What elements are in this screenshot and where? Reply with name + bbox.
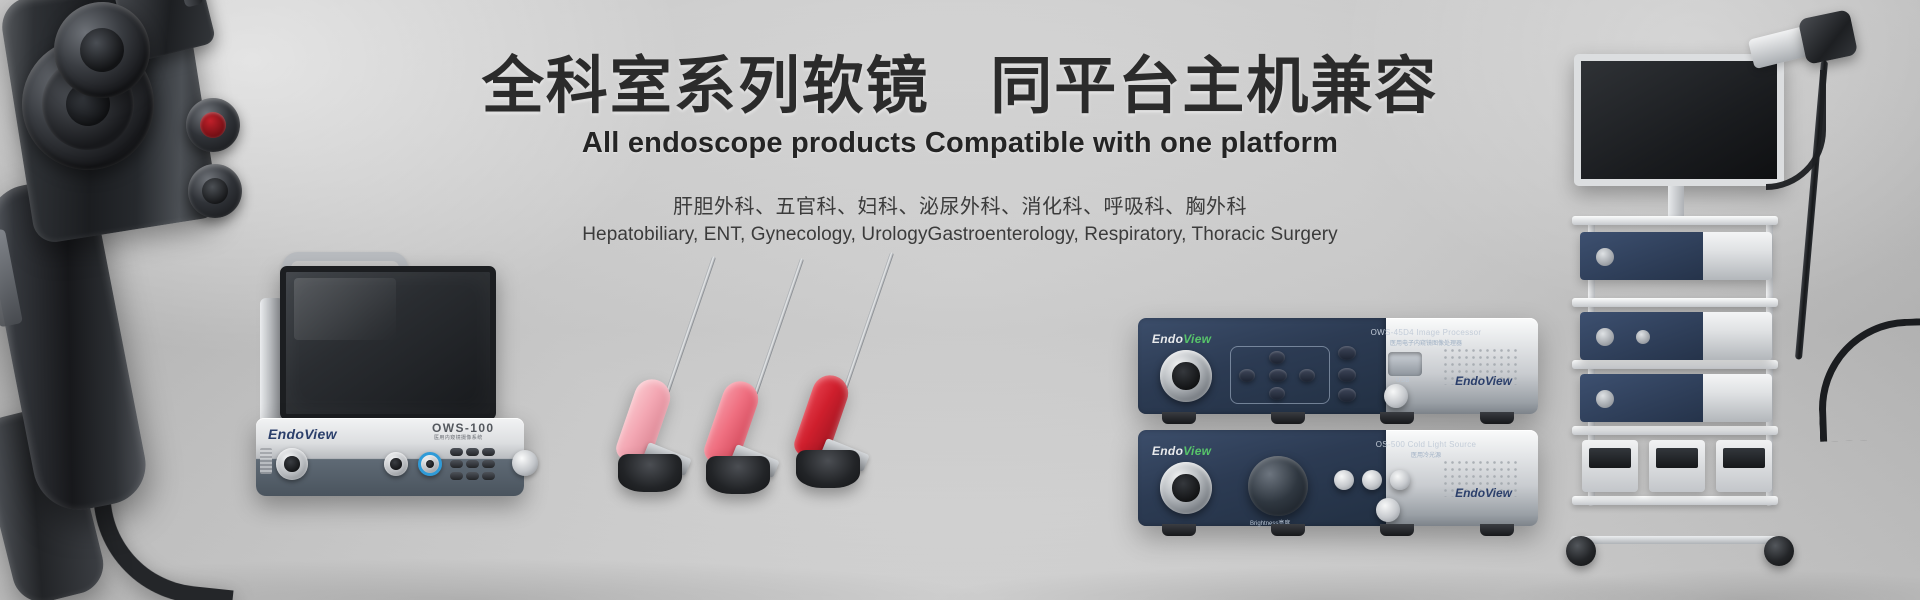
headline-cn-part2: 同平台主机兼容 [990, 52, 1438, 121]
image-processor-unit: EndoView OWS-45D4 Image Processor 医用电子内窥… [1138, 318, 1538, 414]
light-source-model: OS-500 Cold Light Source [1314, 440, 1538, 449]
light-source-model-cn: 医用冷光源 [1314, 450, 1538, 459]
processor-usb-label: USB [1396, 378, 1410, 384]
light-source-brand-prefix: Endo [1152, 444, 1183, 458]
brightness-knob [1248, 456, 1308, 516]
processor-feet [1162, 412, 1514, 424]
processor-brand: EndoView [1152, 332, 1211, 346]
key-freeze [1338, 368, 1356, 382]
light-source-power-button [1376, 498, 1400, 522]
light-source-output-port [1160, 462, 1212, 514]
processor-scope-port [1160, 350, 1212, 402]
headline-en: All endoscope products Compatible with o… [0, 127, 1920, 160]
cart-lower-modules [1582, 440, 1772, 492]
processor-brand-prefix: Endo [1152, 332, 1183, 346]
cart-device-3 [1580, 374, 1772, 422]
processor-power-button [1384, 384, 1408, 408]
mode-button [1334, 470, 1354, 490]
workstation-keypad [450, 448, 506, 482]
whiteled-button [1362, 470, 1382, 490]
workstation-port-3-highlighted [418, 452, 442, 476]
scope-stand [706, 456, 770, 494]
page-title: 全科室系列软镜 同平台主机兼容 [0, 52, 1920, 121]
cart-base-frame [1570, 536, 1784, 544]
banner-text-block: 全科室系列软镜 同平台主机兼容 All endoscope products C… [0, 52, 1920, 246]
processor-model: OWS-45D4 Image Processor [1314, 328, 1538, 337]
key-left [1239, 369, 1255, 382]
light-source-brand: EndoView [1152, 444, 1211, 458]
cart-scope-tube-loop [1816, 318, 1920, 442]
workstation-model-cn: 医用内窥镜摄像系统 [434, 434, 483, 441]
key-right [1299, 369, 1315, 382]
product-banner: 全科室系列软镜 同平台主机兼容 All endoscope products C… [0, 0, 1920, 600]
key-menu [1269, 369, 1287, 382]
scope-stand [618, 454, 682, 492]
cold-light-source-unit: EndoView OS-500 Cold Light Source 医用冷光源 … [1138, 430, 1538, 526]
departments-en: Hepatobiliary, ENT, Gynecology, UrologyG… [0, 224, 1920, 246]
light-source-feet [1162, 524, 1514, 536]
cart-shelf-4 [1572, 426, 1778, 435]
scope-shaft [838, 252, 894, 405]
light-source-brand-suffix: View [1183, 444, 1211, 458]
processor-side-brand: EndoView [1455, 374, 1512, 388]
key-capture [1338, 388, 1356, 402]
key-awb [1338, 346, 1356, 360]
workstation-model: OWS-100 [432, 421, 494, 435]
key-down [1269, 387, 1285, 400]
processor-brand-suffix: View [1183, 332, 1211, 346]
cart-wheel-right [1764, 536, 1794, 566]
scope-stand [796, 450, 860, 488]
processor-keypad [1230, 346, 1330, 404]
cart-device-2 [1580, 312, 1772, 360]
workstation-port-2 [384, 452, 408, 476]
cart-shelf-5 [1572, 496, 1778, 505]
departments-cn: 肝胆外科、五官科、妇科、泌尿外科、消化科、呼吸科、胸外科 [0, 190, 1920, 219]
pump-button [1390, 470, 1410, 490]
cart-device-2-knob [1636, 330, 1650, 344]
workstation-display [280, 266, 496, 420]
key-up [1269, 351, 1285, 364]
processor-usb-port [1388, 352, 1422, 376]
cart-wheel-left [1566, 536, 1596, 566]
rigid-scope-red [778, 244, 928, 494]
workstation-power-knob [512, 450, 538, 476]
headline-cn-part1: 全科室系列软镜 [482, 52, 930, 121]
cart-device-1-port [1596, 248, 1614, 266]
cart-device-3-port [1596, 390, 1614, 408]
cart-shelf-3 [1572, 360, 1778, 369]
cart-device-2-port [1596, 328, 1614, 346]
light-source-side-brand: EndoView [1455, 486, 1512, 500]
cart-shelf-2 [1572, 298, 1778, 307]
